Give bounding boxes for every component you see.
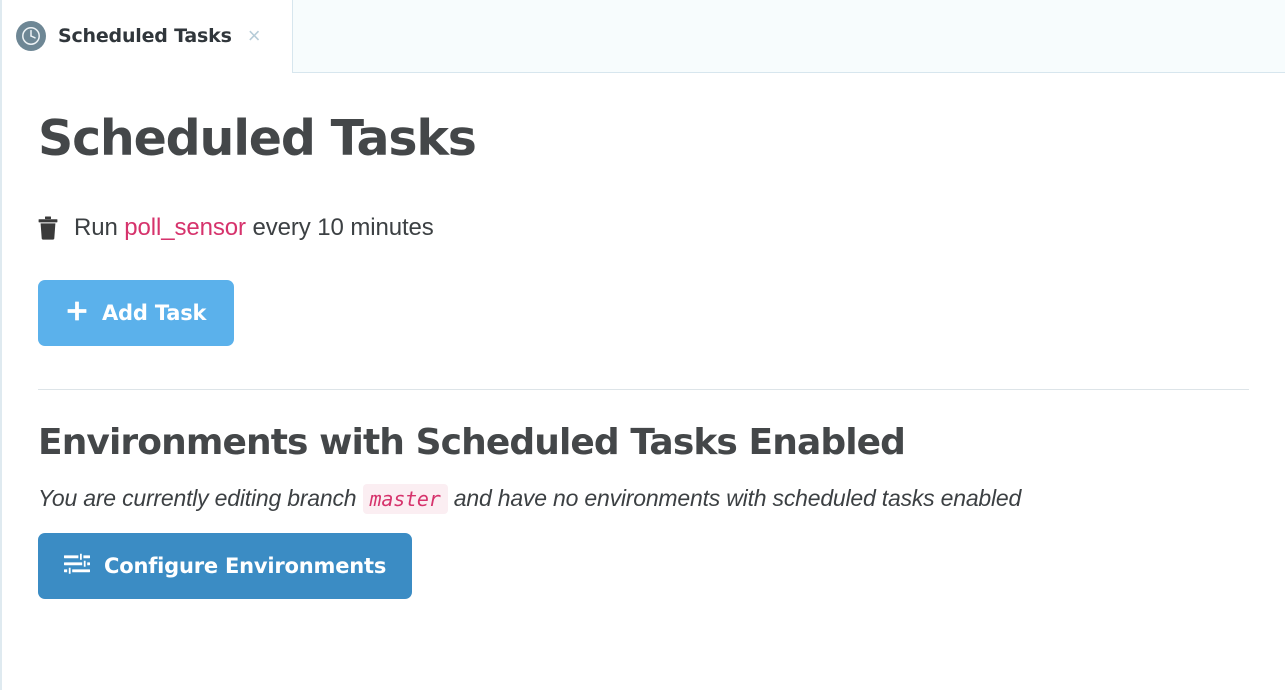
status-suffix: and have no environments with scheduled … xyxy=(448,485,1022,511)
configure-environments-button[interactable]: Configure Environments xyxy=(38,533,412,599)
trash-icon[interactable] xyxy=(38,216,58,240)
tab-scheduled-tasks[interactable]: Scheduled Tasks × xyxy=(2,0,292,73)
task-list: Run poll_sensor every 10 minutes xyxy=(38,214,1285,242)
section-divider xyxy=(38,389,1249,390)
add-task-button[interactable]: Add Task xyxy=(38,280,234,346)
task-row: Run poll_sensor every 10 minutes xyxy=(38,214,1285,242)
tab-strip-empty-area xyxy=(292,0,1285,73)
task-description: Run poll_sensor every 10 minutes xyxy=(74,214,434,242)
branch-name-code: master xyxy=(363,484,448,514)
environments-status: You are currently editing branch master … xyxy=(38,485,1285,512)
page-title: Scheduled Tasks xyxy=(38,113,1285,164)
configure-environments-label: Configure Environments xyxy=(104,554,386,578)
close-icon[interactable]: × xyxy=(244,25,261,47)
task-name: poll_sensor xyxy=(124,214,246,241)
sliders-icon xyxy=(64,553,90,580)
task-prefix: Run xyxy=(74,214,124,241)
clock-icon xyxy=(16,21,46,51)
tab-bar: Scheduled Tasks × xyxy=(2,0,1285,73)
add-task-label: Add Task xyxy=(102,301,206,325)
app-window: Scheduled Tasks × Scheduled Tasks Run po… xyxy=(0,0,1285,690)
environments-heading: Environments with Scheduled Tasks Enable… xyxy=(38,423,1285,463)
main-content: Scheduled Tasks Run poll_sensor every 10… xyxy=(2,113,1285,599)
plus-icon xyxy=(66,300,88,327)
tab-label: Scheduled Tasks xyxy=(58,25,232,47)
task-suffix: every 10 minutes xyxy=(246,214,434,241)
status-prefix: You are currently editing branch xyxy=(38,485,363,511)
